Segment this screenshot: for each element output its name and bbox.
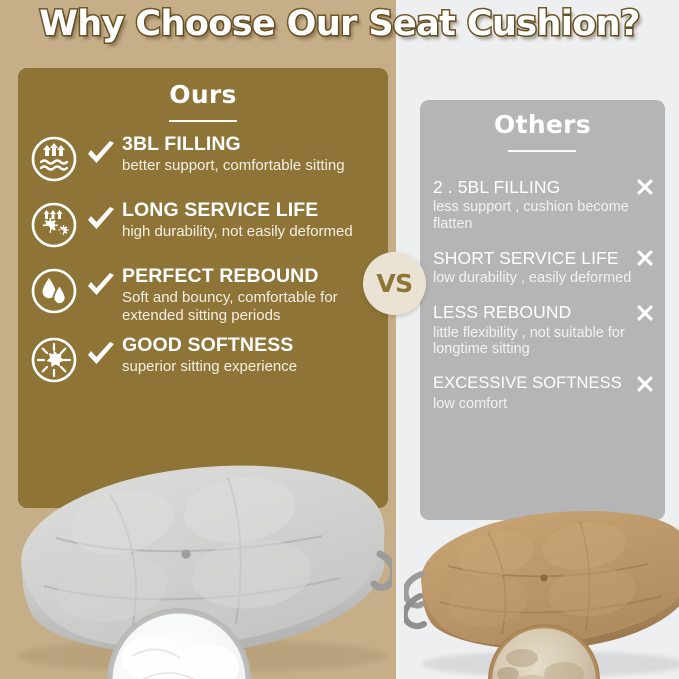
check-icon — [84, 338, 118, 372]
others-heading: Others — [420, 110, 665, 139]
cross-icon — [633, 301, 657, 325]
others-feature-subtitle: low comfort — [433, 396, 657, 413]
ours-feature-text: PERFECT REBOUND Soft and bouncy, comfort… — [122, 265, 388, 324]
others-heading-divider — [508, 150, 576, 152]
ours-feature-row: PERFECT REBOUND Soft and bouncy, comfort… — [18, 265, 388, 324]
others-feature-subtitle: little flexibility , not suitable for lo… — [433, 325, 657, 358]
ours-feature-title: 3BL FILLING — [122, 133, 241, 155]
others-feature-subtitle: low durability , easily deformed — [433, 270, 657, 287]
others-product-image — [404, 492, 679, 679]
page-title: Why Choose Our Seat Cushion? — [0, 4, 679, 44]
ours-feature-subtitle: superior sitting experience — [122, 358, 388, 376]
ours-feature-title: PERFECT REBOUND — [122, 265, 319, 287]
others-feature-row: LESS REBOUND little flexibility , not su… — [420, 301, 665, 358]
ours-heading-divider — [169, 120, 237, 122]
ours-product-image — [0, 418, 392, 679]
others-feature-row: EXCESSIVE SOFTNESS low comfort — [420, 372, 665, 413]
check-icon — [84, 269, 118, 303]
sunburst-softness-icon — [30, 336, 78, 384]
cross-icon — [633, 175, 657, 199]
vs-badge-label: VS — [376, 269, 412, 298]
ours-feature-subtitle: Soft and bouncy, comfortable for extende… — [122, 289, 388, 324]
ours-feature-title: GOOD SOFTNESS — [122, 334, 293, 356]
ours-feature-subtitle: better support, comfortable sitting — [122, 157, 388, 175]
others-feature-title: SHORT SERVICE LIFE — [433, 248, 619, 269]
cross-icon — [633, 246, 657, 270]
ours-feature-row: GOOD SOFTNESS superior sitting experienc… — [18, 334, 388, 390]
others-feature-subtitle: less support , cushion become flatten — [433, 199, 657, 232]
ours-feature-list: 3BL FILLING better support, comfortable … — [18, 133, 388, 400]
others-feature-title: 2 . 5BL FILLING — [433, 177, 560, 198]
ours-feature-text: GOOD SOFTNESS superior sitting experienc… — [122, 334, 388, 376]
check-icon — [84, 137, 118, 171]
water-droplets-icon — [30, 267, 78, 315]
check-icon — [84, 203, 118, 237]
ours-heading: Ours — [18, 80, 388, 109]
gears-with-arrows-icon — [30, 201, 78, 249]
arrows-over-waves-icon — [30, 135, 78, 183]
ours-feature-text: 3BL FILLING better support, comfortable … — [122, 133, 388, 175]
ours-feature-row: LONG SERVICE LIFE high durability, not e… — [18, 199, 388, 255]
ours-feature-title: LONG SERVICE LIFE — [122, 199, 318, 221]
ours-feature-row: 3BL FILLING better support, comfortable … — [18, 133, 388, 189]
infographic-poster: Why Choose Our Seat Cushion? Ours — [0, 0, 679, 679]
ours-feature-subtitle: high durability, not easily deformed — [122, 223, 388, 241]
others-feature-title: EXCESSIVE SOFTNESS — [433, 373, 622, 394]
others-feature-list: 2 . 5BL FILLING less support , cushion b… — [420, 175, 665, 426]
others-feature-row: 2 . 5BL FILLING less support , cushion b… — [420, 175, 665, 232]
cross-icon — [633, 372, 657, 396]
ours-feature-text: LONG SERVICE LIFE high durability, not e… — [122, 199, 388, 241]
vs-badge: VS — [363, 252, 426, 315]
others-feature-row: SHORT SERVICE LIFE low durability , easi… — [420, 246, 665, 287]
others-feature-title: LESS REBOUND — [433, 302, 571, 323]
